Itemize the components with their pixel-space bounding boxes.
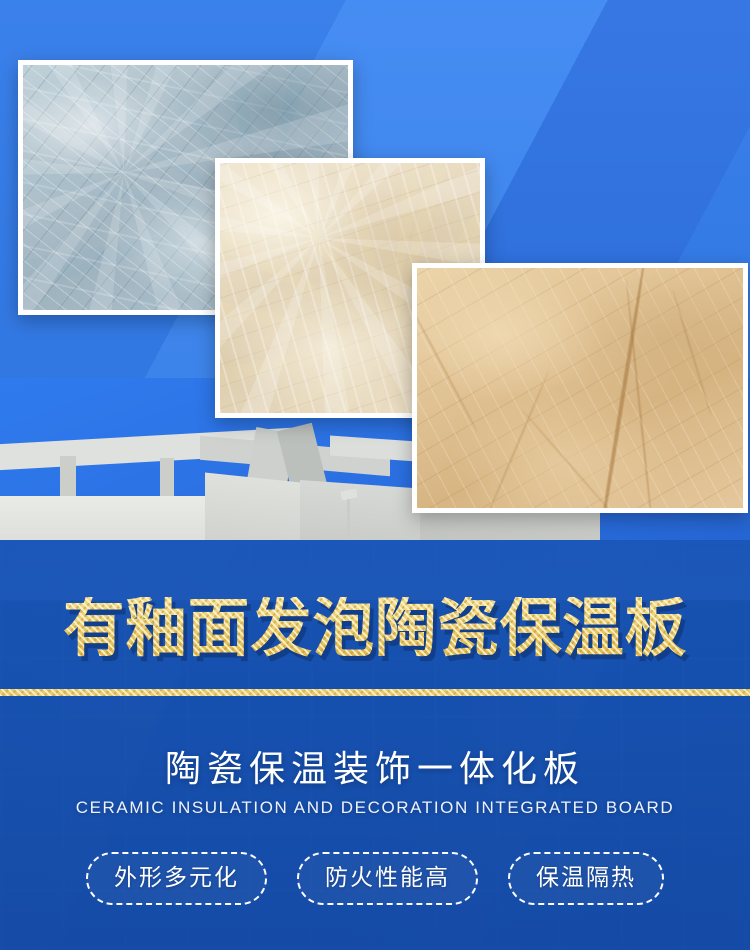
feature-pill-1: 外形多元化 bbox=[86, 852, 267, 905]
product-banner: 有釉面发泡陶瓷保温板 陶瓷保温装饰一体化板 CERAMIC INSULATION… bbox=[0, 0, 750, 950]
tile-texture-tan-marble bbox=[417, 268, 743, 508]
tile-sample-3 bbox=[412, 263, 748, 513]
column-b bbox=[160, 458, 174, 500]
column-a bbox=[60, 456, 76, 498]
feature-pill-2: 防火性能高 bbox=[297, 852, 478, 905]
headline-container: 有釉面发泡陶瓷保温板 bbox=[0, 586, 750, 672]
gold-divider bbox=[0, 689, 750, 696]
marble-vein bbox=[482, 370, 549, 513]
marble-vein bbox=[412, 305, 479, 433]
feature-pill-3: 保温隔热 bbox=[508, 852, 664, 905]
marble-vein bbox=[522, 409, 615, 513]
feature-pill-group: 外形多元化 防火性能高 保温隔热 bbox=[0, 852, 750, 905]
marble-vein bbox=[625, 278, 655, 513]
subtitle-english: CERAMIC INSULATION AND DECORATION INTEGR… bbox=[0, 798, 750, 818]
lamp-post bbox=[347, 496, 350, 546]
marble-vein bbox=[595, 263, 647, 513]
product-title: 有釉面发泡陶瓷保温板 bbox=[63, 597, 687, 661]
marble-vein bbox=[672, 290, 713, 417]
subtitle-chinese: 陶瓷保温装饰一体化板 bbox=[0, 740, 750, 792]
